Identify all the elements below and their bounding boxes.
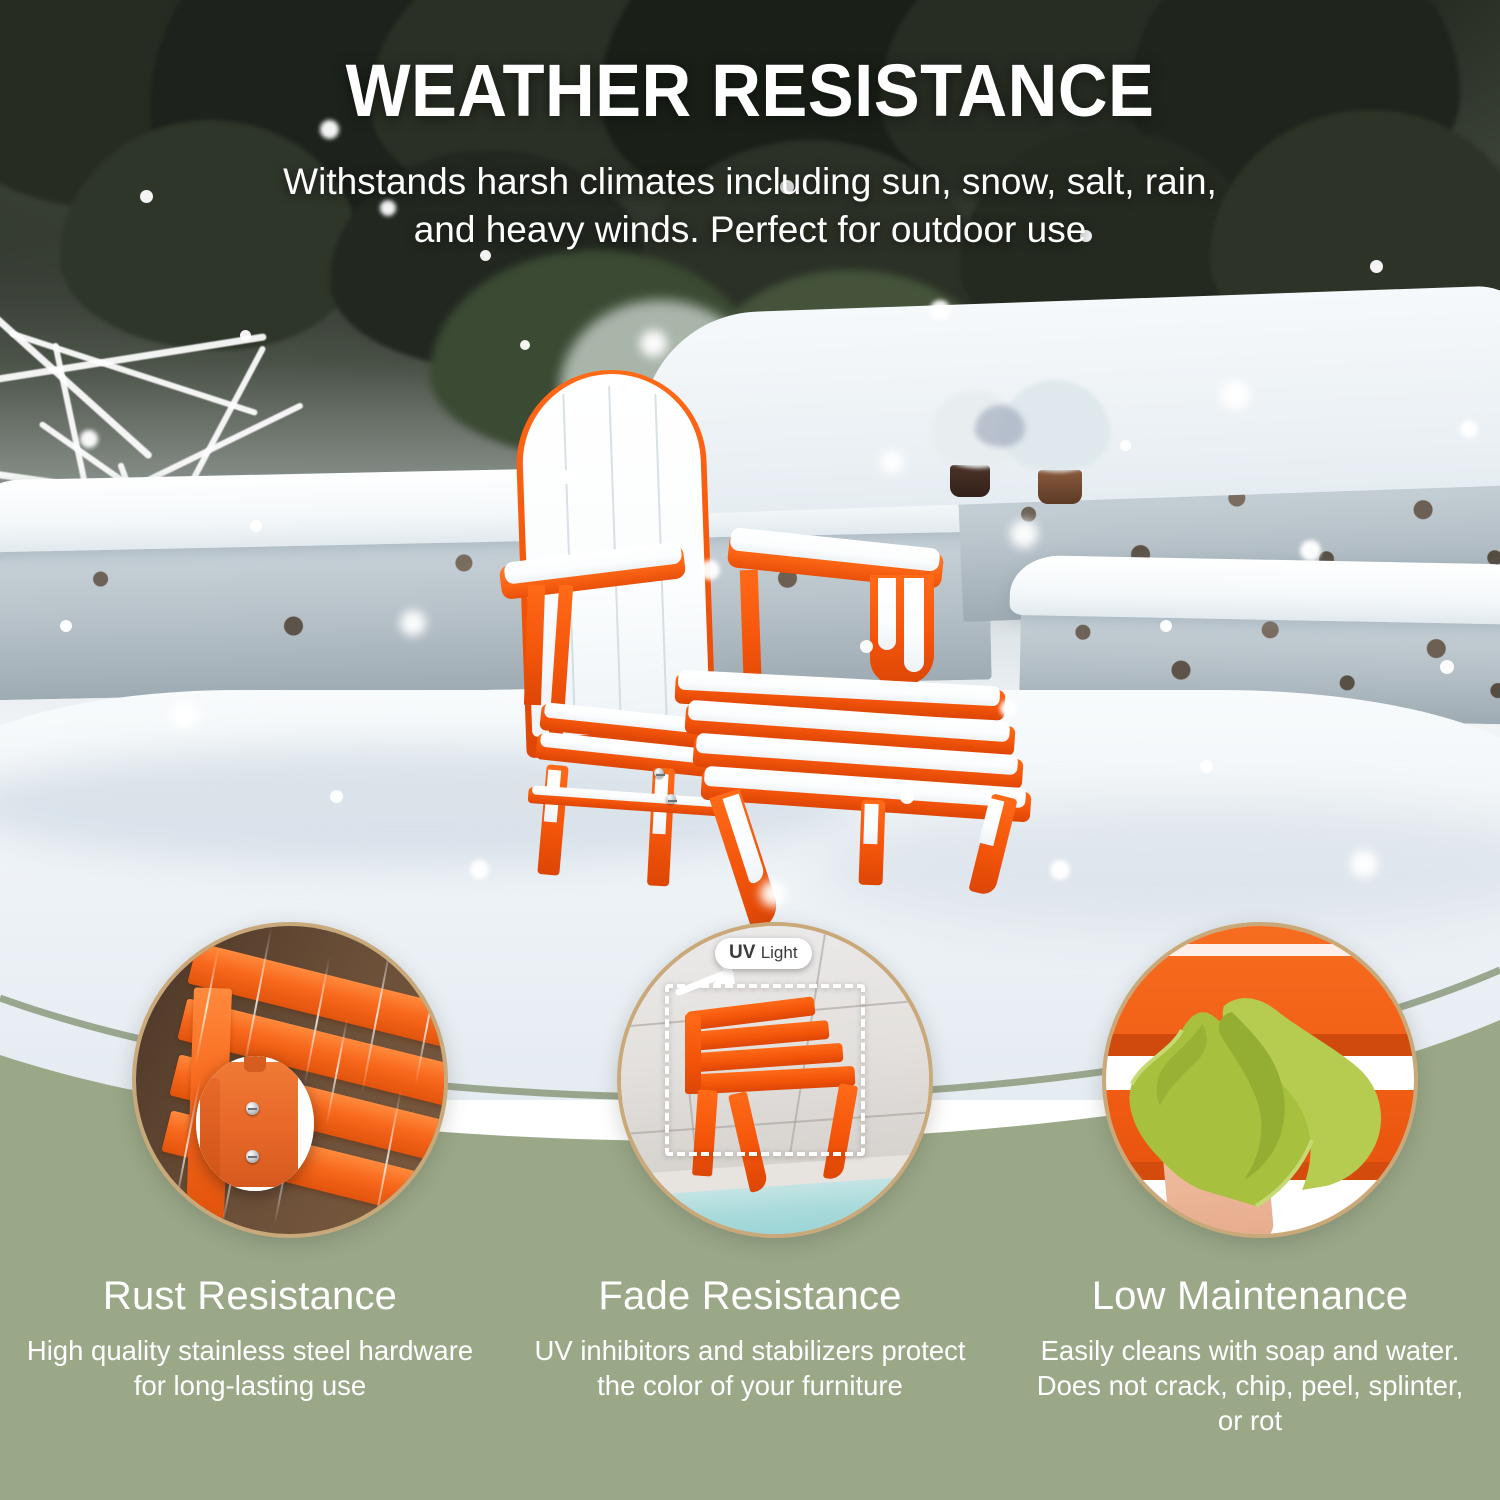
- hardware-zoom-lens: [196, 1056, 314, 1191]
- subtitle-line-1: Withstands harsh climates including sun,…: [283, 161, 1217, 202]
- feature-description: High quality stainless steel hardware fo…: [26, 1333, 474, 1403]
- stainless-screw: [246, 1150, 259, 1163]
- feature-caption-rust-resistance: Rust Resistance High quality stainless s…: [0, 1275, 500, 1439]
- infographic-root: WEATHER RESISTANCE Withstands harsh clim…: [0, 0, 1500, 1500]
- feature-description: Easily cleans with soap and water. Does …: [1026, 1333, 1474, 1439]
- feature-title: Fade Resistance: [526, 1275, 974, 1317]
- header-subtitle: Withstands harsh climates including sun,…: [0, 158, 1500, 253]
- feature-captions-row: Rust Resistance High quality stainless s…: [0, 1275, 1500, 1439]
- uv-label-primary: UV: [729, 942, 755, 963]
- feature-image-rust-resistance: [132, 922, 448, 1238]
- stainless-screw: [246, 1102, 259, 1115]
- uv-label-secondary: Light: [761, 943, 798, 962]
- feature-image-low-maintenance: [1102, 922, 1418, 1238]
- feature-description: UV inhibitors and stabilizers protect th…: [526, 1333, 974, 1403]
- feature-title: Low Maintenance: [1026, 1275, 1474, 1317]
- feature-title: Rust Resistance: [26, 1275, 474, 1317]
- microfiber-cloth-icon: [1106, 954, 1418, 1238]
- uv-light-badge: UV Light: [715, 938, 812, 969]
- feature-caption-fade-resistance: Fade Resistance UV inhibitors and stabil…: [500, 1275, 1000, 1439]
- feature-image-fade-resistance: UV Light: [617, 922, 933, 1238]
- page-title: WEATHER RESISTANCE: [53, 54, 1448, 128]
- subtitle-line-2: and heavy winds. Perfect for outdoor use: [414, 209, 1087, 250]
- adirondack-chair-graphic: [480, 370, 1040, 900]
- header-block: WEATHER RESISTANCE Withstands harsh clim…: [0, 0, 1500, 253]
- feature-caption-low-maintenance: Low Maintenance Easily cleans with soap …: [1000, 1275, 1500, 1439]
